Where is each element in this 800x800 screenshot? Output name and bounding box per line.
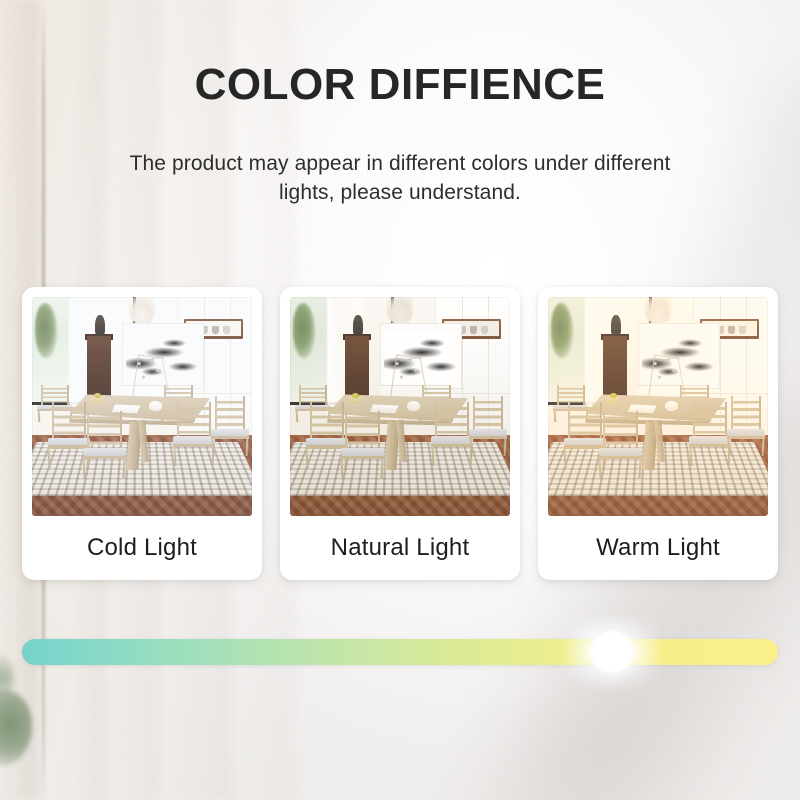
lighting-card-cold[interactable]: Cold Light <box>22 287 262 580</box>
product-photo-natural <box>290 297 510 516</box>
lighting-card-label-warm: Warm Light <box>548 516 768 580</box>
page-title: COLOR DIFFIENCE <box>0 62 800 108</box>
product-photo-warm <box>548 297 768 516</box>
lighting-card-warm[interactable]: Warm Light <box>538 287 778 580</box>
color-temperature-slider[interactable] <box>22 639 778 665</box>
lighting-card-label-cold: Cold Light <box>32 516 252 580</box>
page-subtitle: The product may appear in different colo… <box>100 150 700 207</box>
lighting-card-natural[interactable]: Natural Light <box>280 287 520 580</box>
slider-track[interactable] <box>22 639 778 665</box>
header: COLOR DIFFIENCE The product may appear i… <box>0 0 800 207</box>
lighting-card-label-natural: Natural Light <box>290 516 510 580</box>
color-difference-infographic: COLOR DIFFIENCE The product may appear i… <box>0 0 800 800</box>
product-photo-cold <box>32 297 252 516</box>
slider-handle[interactable] <box>591 631 633 673</box>
lighting-comparison-cards: Cold Light <box>22 287 778 582</box>
